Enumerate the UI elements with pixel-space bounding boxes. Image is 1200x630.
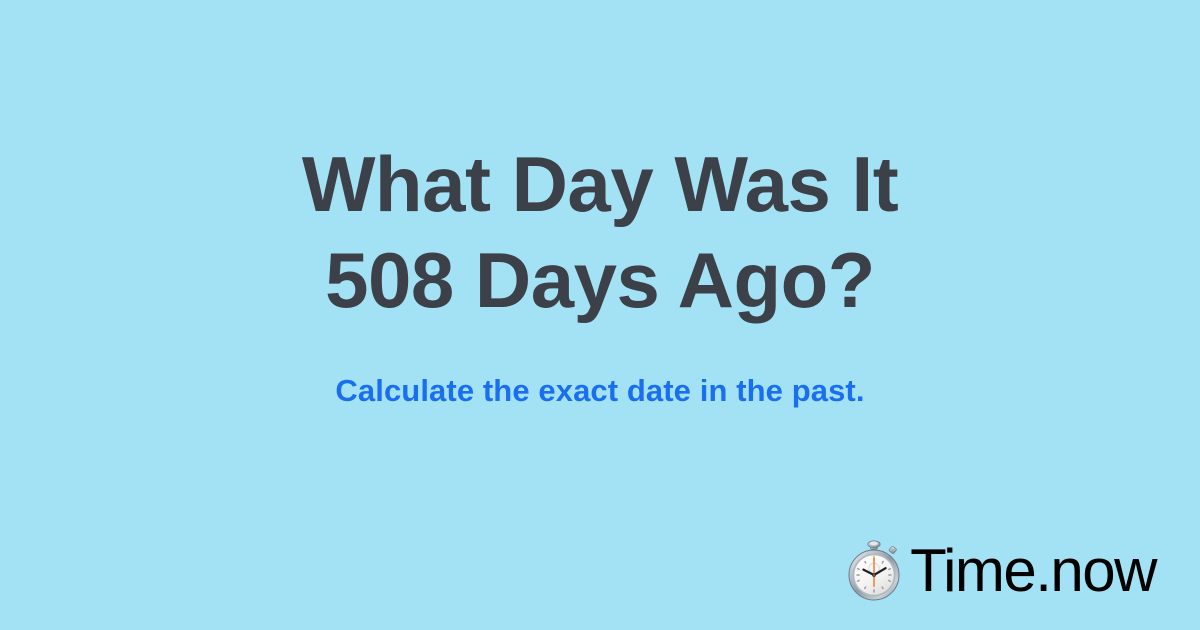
- share-card: What Day Was It 508 Days Ago? Calculate …: [0, 0, 1200, 630]
- headline-line-2: 508 Days Ago?: [0, 232, 1200, 328]
- subtitle: Calculate the exact date in the past.: [0, 372, 1200, 410]
- hero-block: What Day Was It 508 Days Ago? Calculate …: [0, 0, 1200, 410]
- stopwatch-icon: [845, 540, 903, 602]
- page-title: What Day Was It 508 Days Ago?: [0, 136, 1200, 328]
- brand-lockup: Time.now: [845, 540, 1156, 602]
- brand-name: Time.now: [910, 541, 1156, 601]
- headline-line-1: What Day Was It: [0, 136, 1200, 232]
